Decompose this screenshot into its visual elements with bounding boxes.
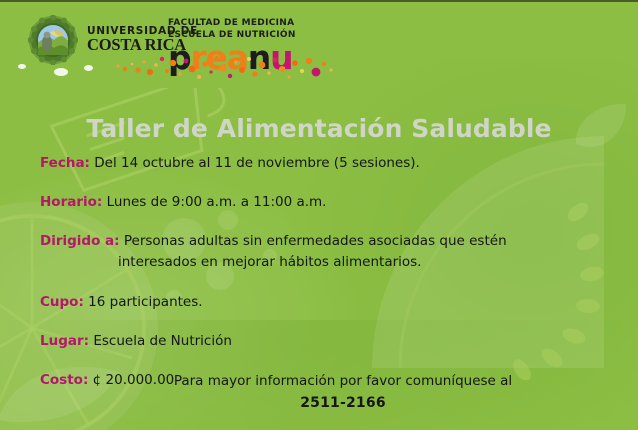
confetti-dots-icon — [110, 50, 340, 86]
bokeh-dot — [54, 68, 68, 76]
detail-row-fecha: Fecha: Del 14 octubre al 11 de noviembre… — [40, 154, 600, 173]
detail-label: Lugar: — [40, 333, 89, 349]
detail-value-continuation: interesados en mejorar hábitos alimentar… — [118, 253, 600, 272]
detail-label: Fecha: — [40, 155, 90, 171]
detail-label: Cupo: — [40, 294, 84, 310]
detail-label: Horario: — [40, 194, 102, 210]
detail-value: Personas adultas sin enfermedades asocia… — [124, 233, 507, 249]
contact-phone-number: 2511-2166 — [0, 395, 638, 411]
detail-label: Dirigido a: — [40, 233, 120, 249]
ucr-shield-icon — [28, 15, 78, 65]
page-title: Taller de Alimentación Saludable — [0, 114, 638, 143]
faculty-line1: FACULTAD DE MEDICINA — [168, 18, 368, 30]
detail-value: Escuela de Nutrición — [93, 333, 232, 349]
detail-value: 16 participantes. — [88, 294, 202, 310]
detail-value: Lunes de 9:00 a.m. a 11:00 a.m. — [107, 194, 327, 210]
detail-row-lugar: Lugar: Escuela de Nutrición — [40, 332, 600, 351]
flyer-poster: UNIVERSIDAD DE COSTA RICA FACULTAD DE ME… — [0, 0, 638, 430]
header-band: UNIVERSIDAD DE COSTA RICA FACULTAD DE ME… — [0, 2, 638, 98]
detail-row-horario: Horario: Lunes de 9:00 a.m. a 11:00 a.m. — [40, 193, 600, 212]
details-list: Fecha: Del 14 octubre al 11 de noviembre… — [40, 154, 600, 390]
bokeh-dot — [84, 65, 93, 71]
bokeh-dot — [18, 64, 26, 69]
detail-row-cupo: Cupo: 16 participantes. — [40, 293, 600, 312]
detail-row-dirigido-a: Dirigido a: Personas adultas sin enferme… — [40, 232, 600, 272]
contact-footer: Para mayor información por favor comuníq… — [0, 373, 638, 411]
detail-value: Del 14 octubre al 11 de noviembre (5 ses… — [94, 155, 420, 171]
contact-instruction: Para mayor información por favor comuníq… — [0, 373, 638, 389]
